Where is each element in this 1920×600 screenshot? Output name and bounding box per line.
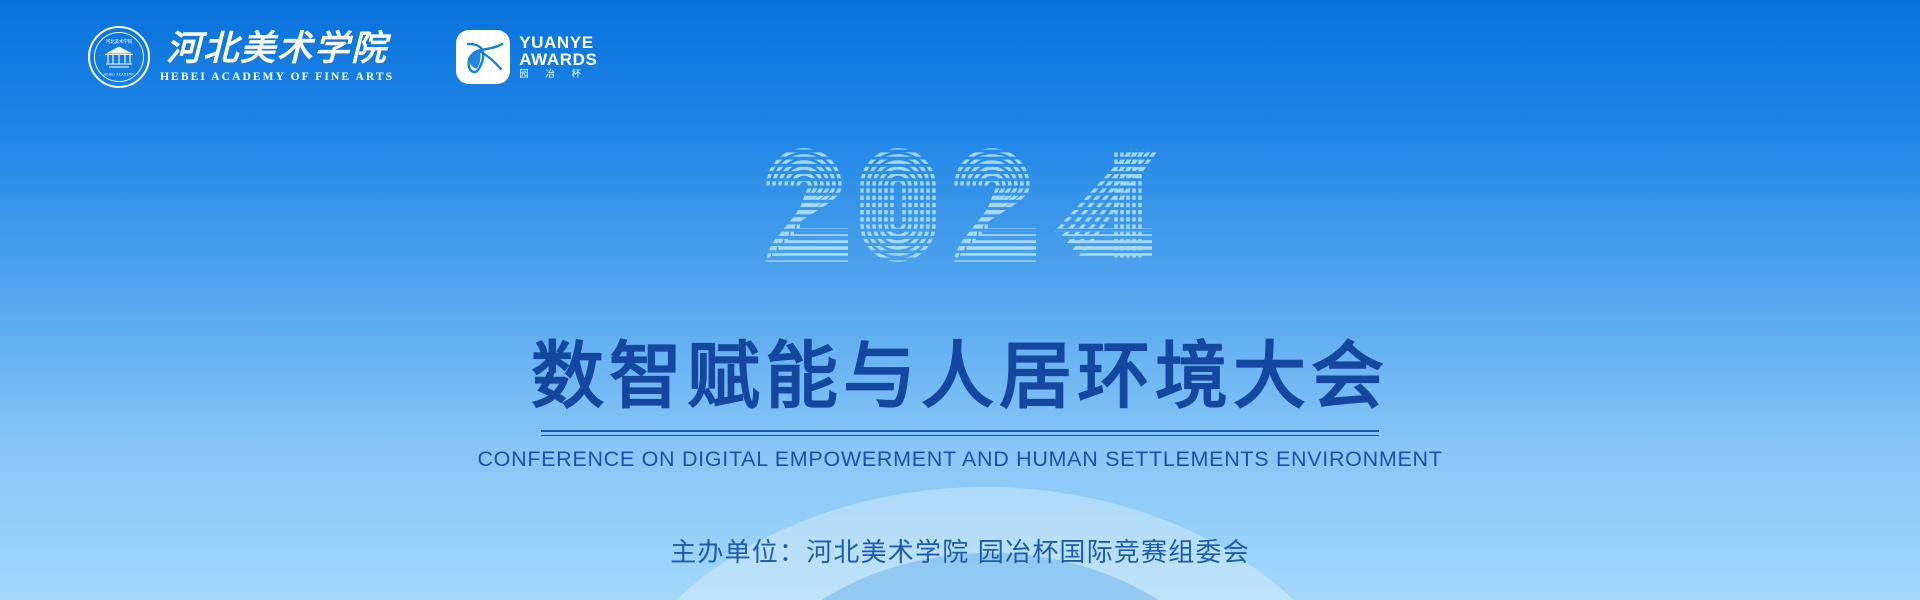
- year-2024-graphic: [760, 138, 1160, 268]
- yuanye-awards-logo: YUANYE AWARDS 园 冶 杯: [456, 30, 597, 84]
- yuanye-line1: YUANYE: [519, 34, 597, 51]
- yuanye-line2: AWARDS: [519, 51, 597, 68]
- svg-text:HEBEI ACADEMY: HEBEI ACADEMY: [104, 73, 135, 77]
- academy-chinese-name: 河北美术学院: [166, 31, 388, 66]
- hebei-academy-seal-icon: 河北美术学院 HEBEI ACADEMY: [88, 26, 150, 88]
- conference-title-chinese: 数智赋能与人居环境大会: [0, 340, 1920, 413]
- logo-row: 河北美术学院 HEBEI ACADEMY 河北美术学院 HEBEI ACADEM…: [88, 26, 597, 88]
- conference-title-english: CONFERENCE ON DIGITAL EMPOWERMENT AND HU…: [0, 447, 1920, 472]
- title-block: 数智赋能与人居环境大会 CONFERENCE ON DIGITAL EMPOWE…: [0, 340, 1920, 472]
- title-divider: [541, 430, 1379, 436]
- yuanye-wordmark: YUANYE AWARDS 园 冶 杯: [519, 34, 597, 80]
- academy-wordmark: 河北美术学院 HEBEI ACADEMY OF FINE ARTS: [160, 31, 394, 83]
- svg-text:河北美术学院: 河北美术学院: [106, 38, 133, 45]
- yuanye-chinese-name: 园 冶 杯: [519, 70, 597, 80]
- conference-banner: 河北美术学院 HEBEI ACADEMY 河北美术学院 HEBEI ACADEM…: [0, 0, 1920, 600]
- host-organizations: 主办单位：河北美术学院 园冶杯国际竞赛组委会: [0, 532, 1920, 569]
- academy-logo: 河北美术学院 HEBEI ACADEMY 河北美术学院 HEBEI ACADEM…: [88, 26, 394, 88]
- yuanye-leaf-mark-icon: [456, 30, 510, 84]
- academy-english-name: HEBEI ACADEMY OF FINE ARTS: [160, 71, 394, 83]
